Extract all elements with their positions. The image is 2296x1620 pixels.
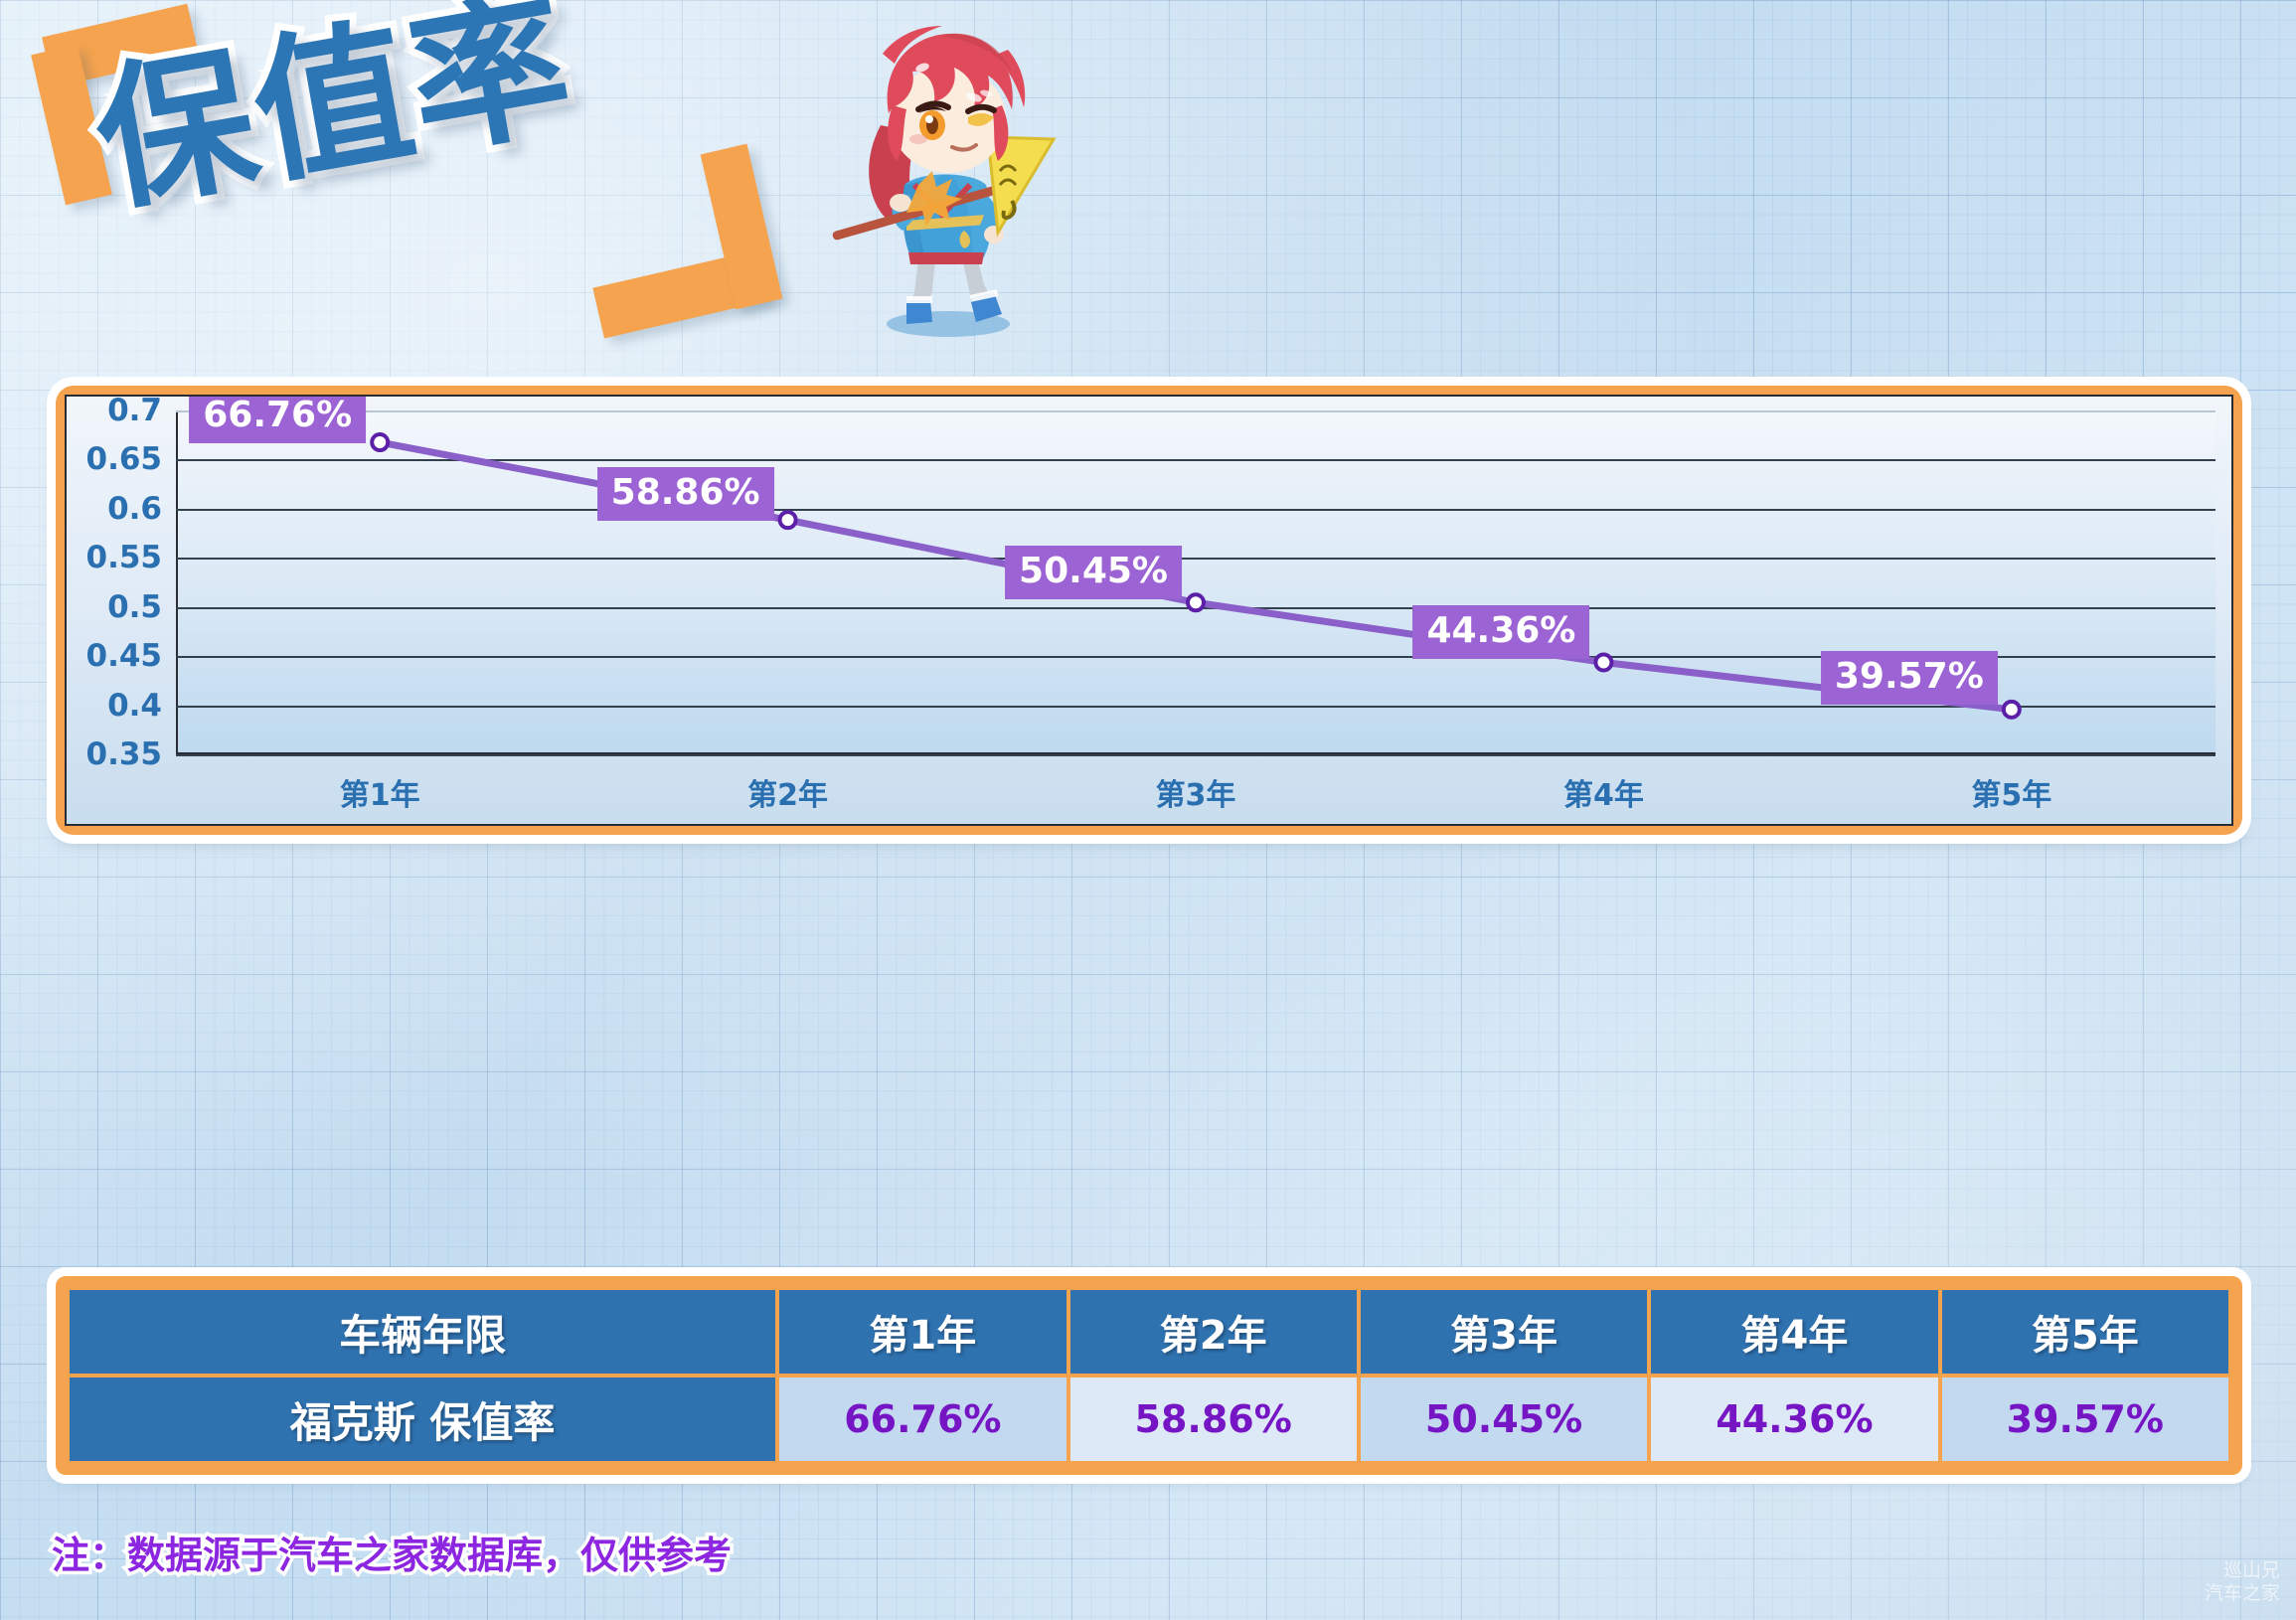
table-header-vehicle-years: 车辆年限	[70, 1290, 775, 1374]
retention-table: 车辆年限 第1年 第2年 第3年 第4年 第5年 福克斯 保值率 66.76% …	[66, 1286, 2232, 1465]
y-axis-tick-label: 0.5	[107, 589, 162, 625]
y-axis-tick-label: 0.55	[86, 540, 163, 575]
y-axis-tick-label: 0.35	[86, 736, 163, 772]
mascot-character-icon	[823, 10, 1071, 348]
data-label-badge: 50.45%	[1005, 546, 1182, 599]
table-cell-year-1: 66.76%	[779, 1377, 1066, 1461]
table-cell-year-4: 44.36%	[1651, 1377, 1937, 1461]
data-point-marker	[1188, 594, 1204, 610]
x-axis-tick-label: 第4年	[1563, 770, 1644, 814]
footnote-data-source: 注：数据源于汽车之家数据库，仅供参考	[52, 1525, 732, 1579]
x-axis-tick-label: 第2年	[747, 770, 828, 814]
data-point-marker	[372, 434, 388, 450]
y-axis-tick-label: 0.65	[86, 441, 163, 477]
table-cell-year-3: 50.45%	[1361, 1377, 1647, 1461]
table-header-year-4: 第4年	[1651, 1290, 1937, 1374]
table-cell-year-2: 58.86%	[1070, 1377, 1357, 1461]
watermark: 巡山兄 汽车之家	[2205, 1559, 2280, 1607]
y-axis-tick-label: 0.7	[107, 395, 162, 428]
data-label-badge: 58.86%	[597, 467, 774, 521]
data-table-panel: 车辆年限 第1年 第2年 第3年 第4年 第5年 福克斯 保值率 66.76% …	[56, 1276, 2242, 1475]
table-cell-year-5: 39.57%	[1942, 1377, 2228, 1461]
chart-panel: 0.70.650.60.550.50.450.40.35 第1年第2年第3年第4…	[56, 386, 2242, 835]
watermark-line-2: 汽车之家	[2205, 1582, 2280, 1606]
table-header-year-5: 第5年	[1942, 1290, 2228, 1374]
data-label-badge: 66.76%	[189, 395, 366, 443]
table-header-row: 车辆年限 第1年 第2年 第3年 第4年 第5年	[70, 1290, 2228, 1374]
data-point-marker	[780, 512, 796, 528]
data-point-marker	[1595, 654, 1611, 670]
y-axis-tick-label: 0.6	[107, 491, 162, 527]
header: 保值率	[0, 0, 2296, 378]
table-row: 福克斯 保值率 66.76% 58.86% 50.45% 44.36% 39.5…	[70, 1377, 2228, 1461]
plot-area: 0.70.650.60.550.50.450.40.35 第1年第2年第3年第4…	[176, 410, 2215, 754]
chart-inner: 0.70.650.60.550.50.450.40.35 第1年第2年第3年第4…	[65, 395, 2233, 826]
x-axis-tick-label: 第3年	[1156, 770, 1236, 814]
data-point-marker	[2004, 702, 2020, 718]
gridline	[176, 754, 2215, 756]
table-header-year-3: 第3年	[1361, 1290, 1647, 1374]
y-axis-tick-label: 0.4	[107, 688, 162, 724]
watermark-line-1: 巡山兄	[2205, 1559, 2280, 1583]
x-axis-tick-label: 第5年	[1971, 770, 2051, 814]
table-header-year-2: 第2年	[1070, 1290, 1357, 1374]
data-label-badge: 44.36%	[1412, 605, 1589, 659]
table-row-label-focus-retention: 福克斯 保值率	[70, 1377, 775, 1461]
data-label-badge: 39.57%	[1821, 651, 1998, 705]
x-axis-tick-label: 第1年	[340, 770, 420, 814]
table-header-year-1: 第1年	[779, 1290, 1066, 1374]
y-axis-tick-label: 0.45	[86, 638, 163, 674]
